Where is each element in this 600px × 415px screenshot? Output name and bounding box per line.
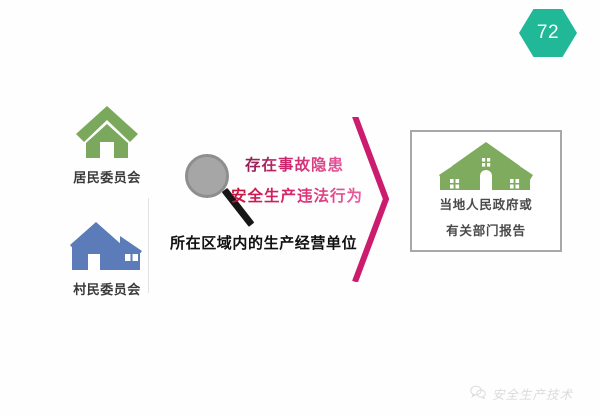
slide-canvas: 72 居民委员会 村民委员会 [0,0,600,415]
watermark-label: 安全生产技术 [492,384,573,403]
committee-item-villagers: 村民委员会 [52,214,162,298]
committee-label: 村民委员会 [52,279,162,298]
blue-house-icon [52,214,162,272]
hazard-text-line-2: 安全生产违法行为 [231,184,363,206]
report-line-2: 有关部门报告 [446,225,526,238]
page-number-badge: 72 [519,8,577,58]
magnifier-lens [185,154,229,198]
chevron-right-arrow [352,117,392,282]
green-government-house-icon [436,141,536,193]
page-number-text: 72 [519,8,577,58]
wechat-icon [470,384,486,403]
report-line-1: 当地人民政府或 [439,199,532,212]
watermark: 安全生产技术 [470,384,573,403]
green-house-icon [52,102,162,160]
report-destination-box: 当地人民政府或 有关部门报告 [410,130,562,252]
hazard-text-line-1: 存在事故隐患 [245,153,344,175]
vertical-divider [148,198,149,293]
subject-text: 所在区域内的生产经营单位 [170,232,357,253]
committee-item-residents: 居民委员会 [52,102,162,186]
committee-label: 居民委员会 [52,167,162,186]
